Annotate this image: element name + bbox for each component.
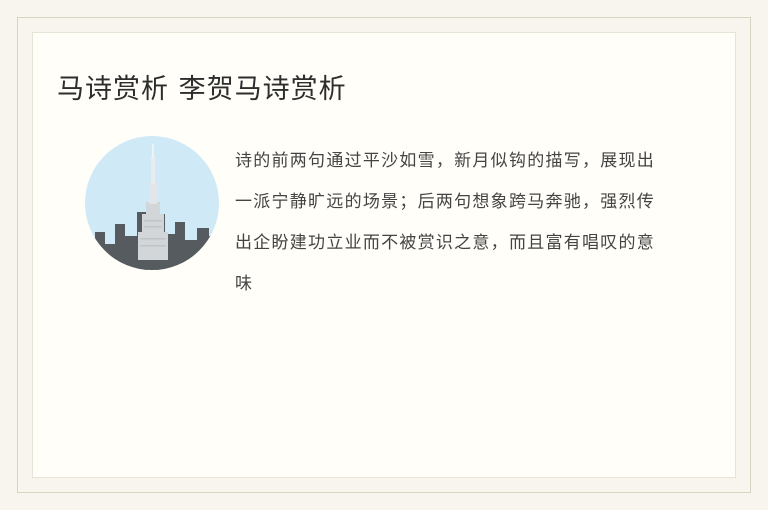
article-body: 诗的前两句通过平沙如雪，新月似钩的描写，展现出一派宁静旷远的场景；后两句想象跨马… (235, 141, 655, 305)
city-skyline-illustration (85, 136, 219, 270)
document-card: 马诗赏析 李贺马诗赏析 (0, 0, 768, 510)
page-title: 马诗赏析 李贺马诗赏析 (57, 67, 347, 106)
card-content: 马诗赏析 李贺马诗赏析 (33, 33, 735, 477)
